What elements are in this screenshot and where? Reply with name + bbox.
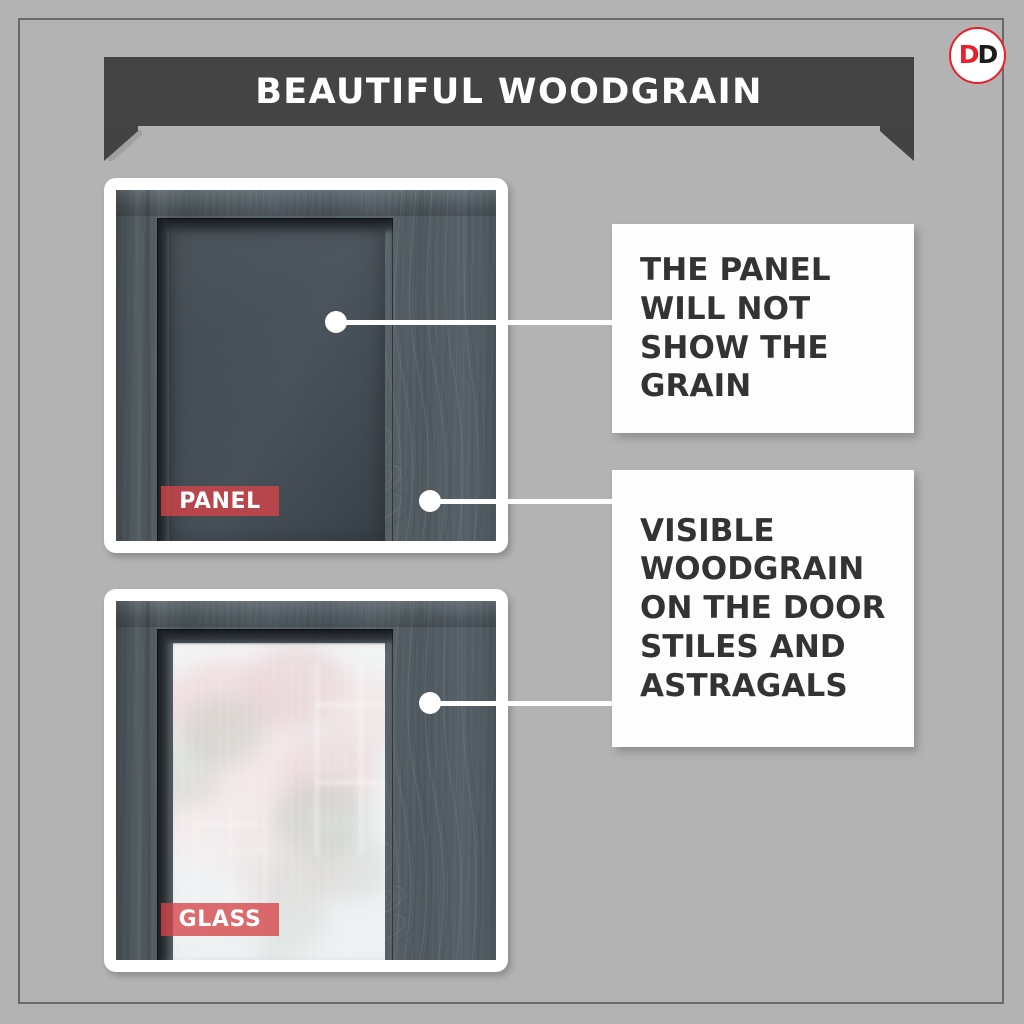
leader-dot-stile-upper bbox=[419, 490, 441, 512]
badge-glass-label: GLASS bbox=[179, 907, 262, 932]
badge-glass: GLASS bbox=[161, 903, 279, 936]
leader-line-stile-upper bbox=[430, 499, 622, 504]
badge-panel: PANEL bbox=[161, 486, 279, 516]
logo-letter-first: D bbox=[959, 40, 978, 69]
callout-panel-text: THE PANEL WILL NOT SHOW THE GRAIN bbox=[640, 251, 914, 406]
door-left-edge-shading bbox=[116, 190, 150, 541]
badge-panel-label: PANEL bbox=[179, 489, 261, 514]
dd-logo[interactable]: DD bbox=[949, 27, 1006, 84]
callout-panel: THE PANEL WILL NOT SHOW THE GRAIN bbox=[612, 224, 914, 433]
leader-dot-panel bbox=[325, 311, 347, 333]
leader-line-stile-lower bbox=[430, 701, 622, 706]
infographic-canvas: BEAUTIFUL WOODGRAIN DD bbox=[0, 0, 1024, 1024]
title-banner: BEAUTIFUL WOODGRAIN bbox=[104, 57, 914, 161]
door-left-edge-shading bbox=[116, 601, 150, 960]
leader-line-panel bbox=[336, 320, 622, 325]
door-top-rail-shading bbox=[116, 190, 496, 216]
banner-title-text: BEAUTIFUL WOODGRAIN bbox=[104, 57, 914, 126]
logo-letter-second: D bbox=[978, 40, 997, 69]
callout-grain-text: VISIBLE WOODGRAIN ON THE DOOR STILES AND… bbox=[640, 512, 914, 706]
dd-logo-text: DD bbox=[959, 42, 997, 67]
leader-dot-stile-lower bbox=[419, 692, 441, 714]
callout-grain: VISIBLE WOODGRAIN ON THE DOOR STILES AND… bbox=[612, 470, 914, 747]
door-top-rail-shading bbox=[116, 601, 496, 627]
